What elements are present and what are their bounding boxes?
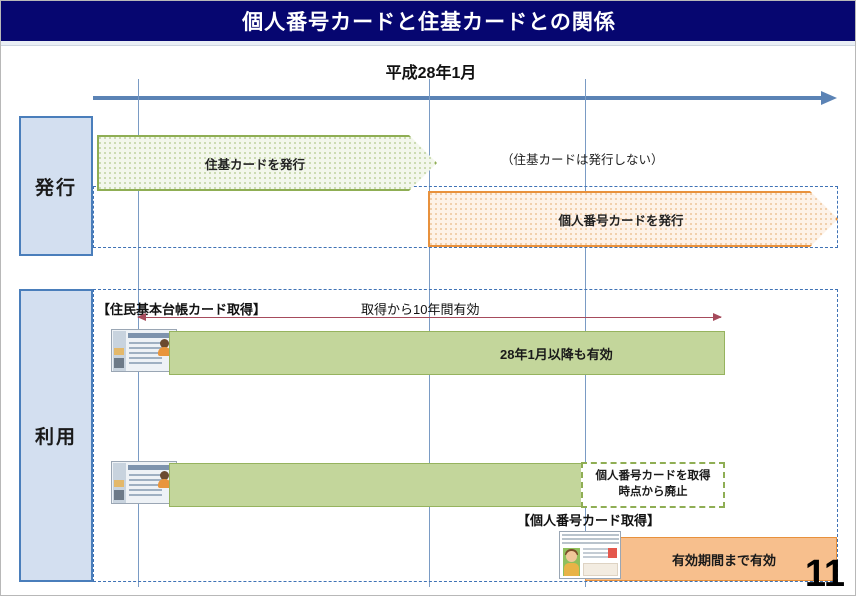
callout-line-1: 個人番号カードを取得 bbox=[596, 469, 711, 485]
bar-valid-until-expiry-label: 有効期間まで有効 bbox=[672, 550, 776, 569]
title-underline bbox=[1, 41, 856, 46]
label-validity-span: 取得から10年間有効 bbox=[361, 299, 479, 318]
section-label-use: 利用 bbox=[19, 289, 93, 582]
juki-card-emblem-second bbox=[114, 480, 124, 487]
callout-line-2: 時点から廃止 bbox=[619, 485, 688, 501]
timeline-arrowhead-icon bbox=[821, 91, 837, 105]
mynumber-card-thumbnail bbox=[559, 531, 621, 579]
page-title: 個人番号カードと住基カードとの関係 bbox=[242, 6, 616, 36]
section-label-issue-text: 発行 bbox=[35, 173, 77, 200]
note-juki-not-issued: （住基カードは発行しない） bbox=[501, 149, 664, 168]
callout-abolished-on-mynumber-acquisition: 個人番号カードを取得 時点から廃止 bbox=[581, 462, 725, 508]
juki-card-emblem bbox=[114, 348, 124, 355]
juki-card-thumbnail-second bbox=[111, 461, 177, 504]
juki-card-header bbox=[128, 333, 172, 338]
juki-card-barcode bbox=[114, 358, 124, 368]
juki-card-header-second bbox=[128, 465, 172, 470]
validity-span-double-arrow-icon bbox=[138, 317, 721, 318]
era-marker-label: 平成28年1月 bbox=[331, 59, 531, 83]
mynumber-card-photo-icon bbox=[563, 548, 580, 576]
arrow-mynumber-card-issued: 個人番号カードを発行 bbox=[428, 191, 838, 247]
mynumber-card-header-lines bbox=[562, 534, 619, 545]
page-number: 11 bbox=[805, 555, 845, 593]
mynumber-card-fields bbox=[583, 548, 608, 560]
juki-card-thumbnail bbox=[111, 329, 177, 372]
section-label-issue: 発行 bbox=[19, 116, 93, 256]
label-juki-card-acquired: 【住民基本台帳カード取得】 bbox=[97, 299, 266, 318]
mynumber-card-flag-icon bbox=[608, 548, 617, 558]
timeline-axis bbox=[93, 96, 823, 100]
slide-canvas: 個人番号カードと住基カードとの関係 平成28年1月 発行 利用 住基カードを発行… bbox=[0, 0, 856, 596]
bar-valid-after-2016: 28年1月以降も有効 bbox=[169, 331, 725, 375]
mynumber-card-number-box bbox=[583, 563, 618, 576]
juki-card-barcode-second bbox=[114, 490, 124, 500]
section-label-use-text: 利用 bbox=[35, 422, 77, 449]
slide-title-bar: 個人番号カードと住基カードとの関係 bbox=[1, 1, 856, 41]
label-mynumber-card-acquired: 【個人番号カード取得】 bbox=[517, 510, 660, 529]
bar-valid-after-2016-label: 28年1月以降も有効 bbox=[500, 344, 613, 363]
arrow-juki-card-issued-label: 住基カードを発行 bbox=[205, 154, 329, 173]
bar-valid-until-expiry: 有効期間まで有効 bbox=[585, 537, 837, 581]
arrow-juki-card-issued: 住基カードを発行 bbox=[97, 135, 437, 191]
arrow-mynumber-card-issued-label: 個人番号カードを発行 bbox=[558, 210, 707, 229]
